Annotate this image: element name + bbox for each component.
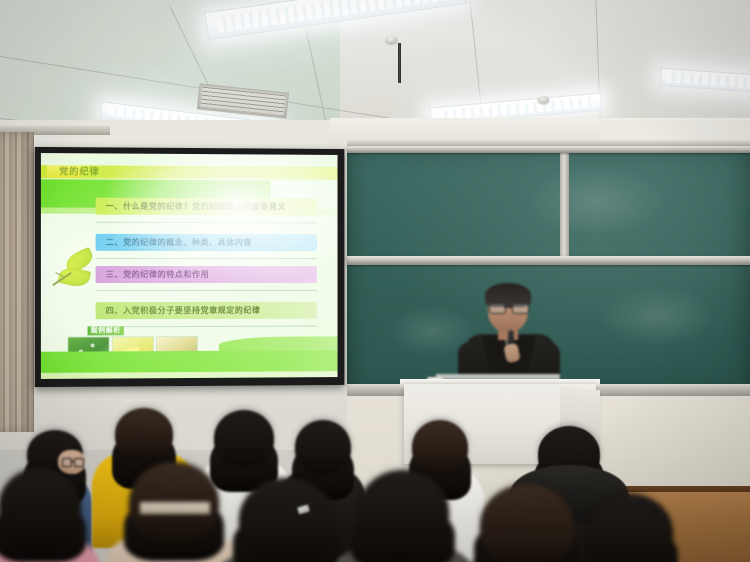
slide-case-badge: 案例解析	[88, 326, 124, 335]
projection-screen: 党的纪律 一、什么是党的纪律？党的纪律建设的重要意义二、党的纪律的概念、种类、具…	[41, 153, 338, 379]
slide-footer-band	[41, 350, 338, 373]
student-desk	[140, 502, 210, 514]
projection-screen-frame: 党的纪律 一、什么是党的纪律？党的纪律建设的重要意义二、党的纪律的概念、种类、具…	[35, 147, 345, 387]
student-head	[357, 470, 449, 556]
slide-agenda-rule	[96, 258, 317, 259]
light-tube	[666, 72, 750, 90]
student-pink	[0, 468, 100, 562]
blackboard-top-rail	[347, 146, 750, 153]
eyeglasses-icon	[489, 303, 527, 312]
student-head	[239, 478, 335, 562]
smoke-detector-1	[386, 36, 397, 43]
smoke-detector-2	[538, 96, 549, 103]
student-head	[587, 494, 673, 562]
leaf-decoration-icon	[51, 250, 98, 294]
student-head	[0, 468, 81, 544]
lecture-hall-photo: 党的纪律 一、什么是党的纪律？党的纪律建设的重要意义二、党的纪律的概念、种类、具…	[0, 0, 750, 562]
slide-footer-underline	[41, 371, 338, 379]
ceiling-light-panel-3	[660, 68, 750, 94]
slide-footer-swoosh	[219, 336, 338, 350]
slide-agenda-row-3: 三、党的纪律的特点和作用	[96, 266, 317, 283]
audience-row-front	[0, 398, 750, 562]
slide-title: 党的纪律	[59, 165, 99, 178]
blackboard-mid-rail	[347, 256, 750, 265]
slide-agenda-row-2: 二、党的纪律的概念、种类、具体内容	[96, 234, 317, 251]
projector-mount-rod	[398, 43, 401, 83]
seated-students	[0, 398, 750, 562]
window-curtain	[0, 132, 34, 432]
student-white-front	[560, 494, 700, 562]
slide-agenda-row-4: 四、入党积极分子要坚持党章规定的纪律	[96, 302, 317, 320]
slide-agenda-row-1: 一、什么是党的纪律？党的纪律建设的重要意义	[96, 198, 317, 216]
blackboard-vertical-divider	[560, 146, 569, 256]
